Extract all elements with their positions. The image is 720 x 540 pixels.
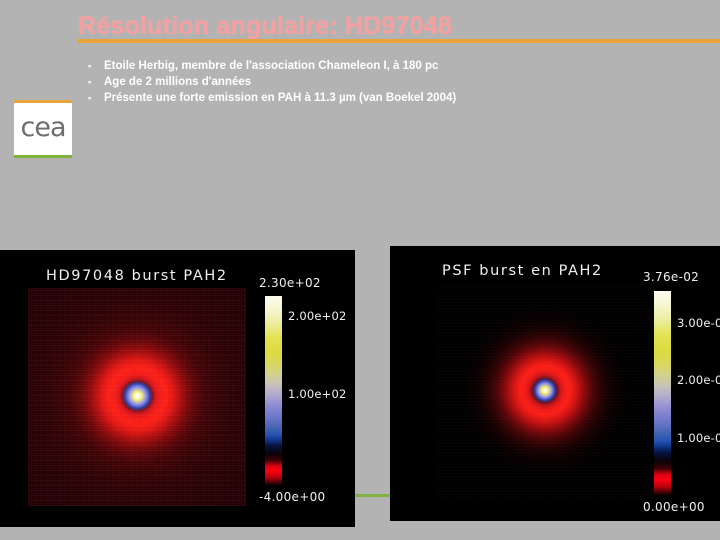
colorbar-left-tick-2: 1.00e+02 (288, 387, 347, 401)
colorbar-left (265, 296, 282, 486)
list-item: ▪ Etoile Herbig, membre de l'association… (88, 59, 648, 74)
image-noise-overlay (438, 282, 654, 498)
figure-panel-left: HD97048 burst PAH2 2.30e+02 2.00e+02 1.0… (0, 250, 355, 527)
title-divider (78, 39, 720, 43)
bullet-text: Age de 2 millions d'années (104, 75, 251, 90)
bullet-marker-icon: ▪ (88, 59, 104, 74)
bullet-marker-icon: ▪ (88, 75, 104, 90)
green-accent-bar (355, 494, 390, 497)
page-title: Résolution angulaire: HD97048 (78, 12, 452, 41)
figure-title-left: HD97048 burst PAH2 (46, 268, 228, 284)
bullet-list: ▪ Etoile Herbig, membre de l'association… (88, 59, 648, 107)
image-noise-overlay (28, 288, 246, 506)
colorbar-right (654, 291, 671, 496)
colorbar-right-tick-1: 3.00e-02 (677, 316, 720, 330)
colorbar-left-min-label: -4.00e+00 (259, 490, 325, 504)
colorbar-right-min-label: 0.00e+00 (643, 500, 705, 514)
sky-image-hd97048 (28, 288, 246, 506)
cea-logo: cea (14, 100, 72, 158)
figure-title-right: PSF burst en PAH2 (442, 263, 603, 279)
logo-bottom-bar (14, 155, 72, 158)
colorbar-right-tick-2: 2.00e-02 (677, 373, 720, 387)
logo-top-bar (14, 100, 72, 103)
list-item: ▪ Age de 2 millions d'années (88, 75, 648, 90)
sky-image-psf (438, 282, 654, 498)
colorbar-right-max-label: 3.76e-02 (643, 270, 699, 284)
colorbar-left-tick-1: 2.00e+02 (288, 309, 347, 323)
logo-wordmark: cea (14, 113, 72, 143)
bullet-text: Etoile Herbig, membre de l'association C… (104, 59, 438, 74)
bullet-marker-icon: ▪ (88, 91, 104, 106)
figure-panel-right: PSF burst en PAH2 3.76e-02 3.00e-02 2.00… (390, 246, 720, 521)
bullet-text: Présente une forte emission en PAH à 11.… (104, 91, 456, 106)
colorbar-left-max-label: 2.30e+02 (259, 276, 321, 290)
list-item: ▪ Présente une forte emission en PAH à 1… (88, 91, 648, 106)
colorbar-right-tick-3: 1.00e-02 (677, 431, 720, 445)
